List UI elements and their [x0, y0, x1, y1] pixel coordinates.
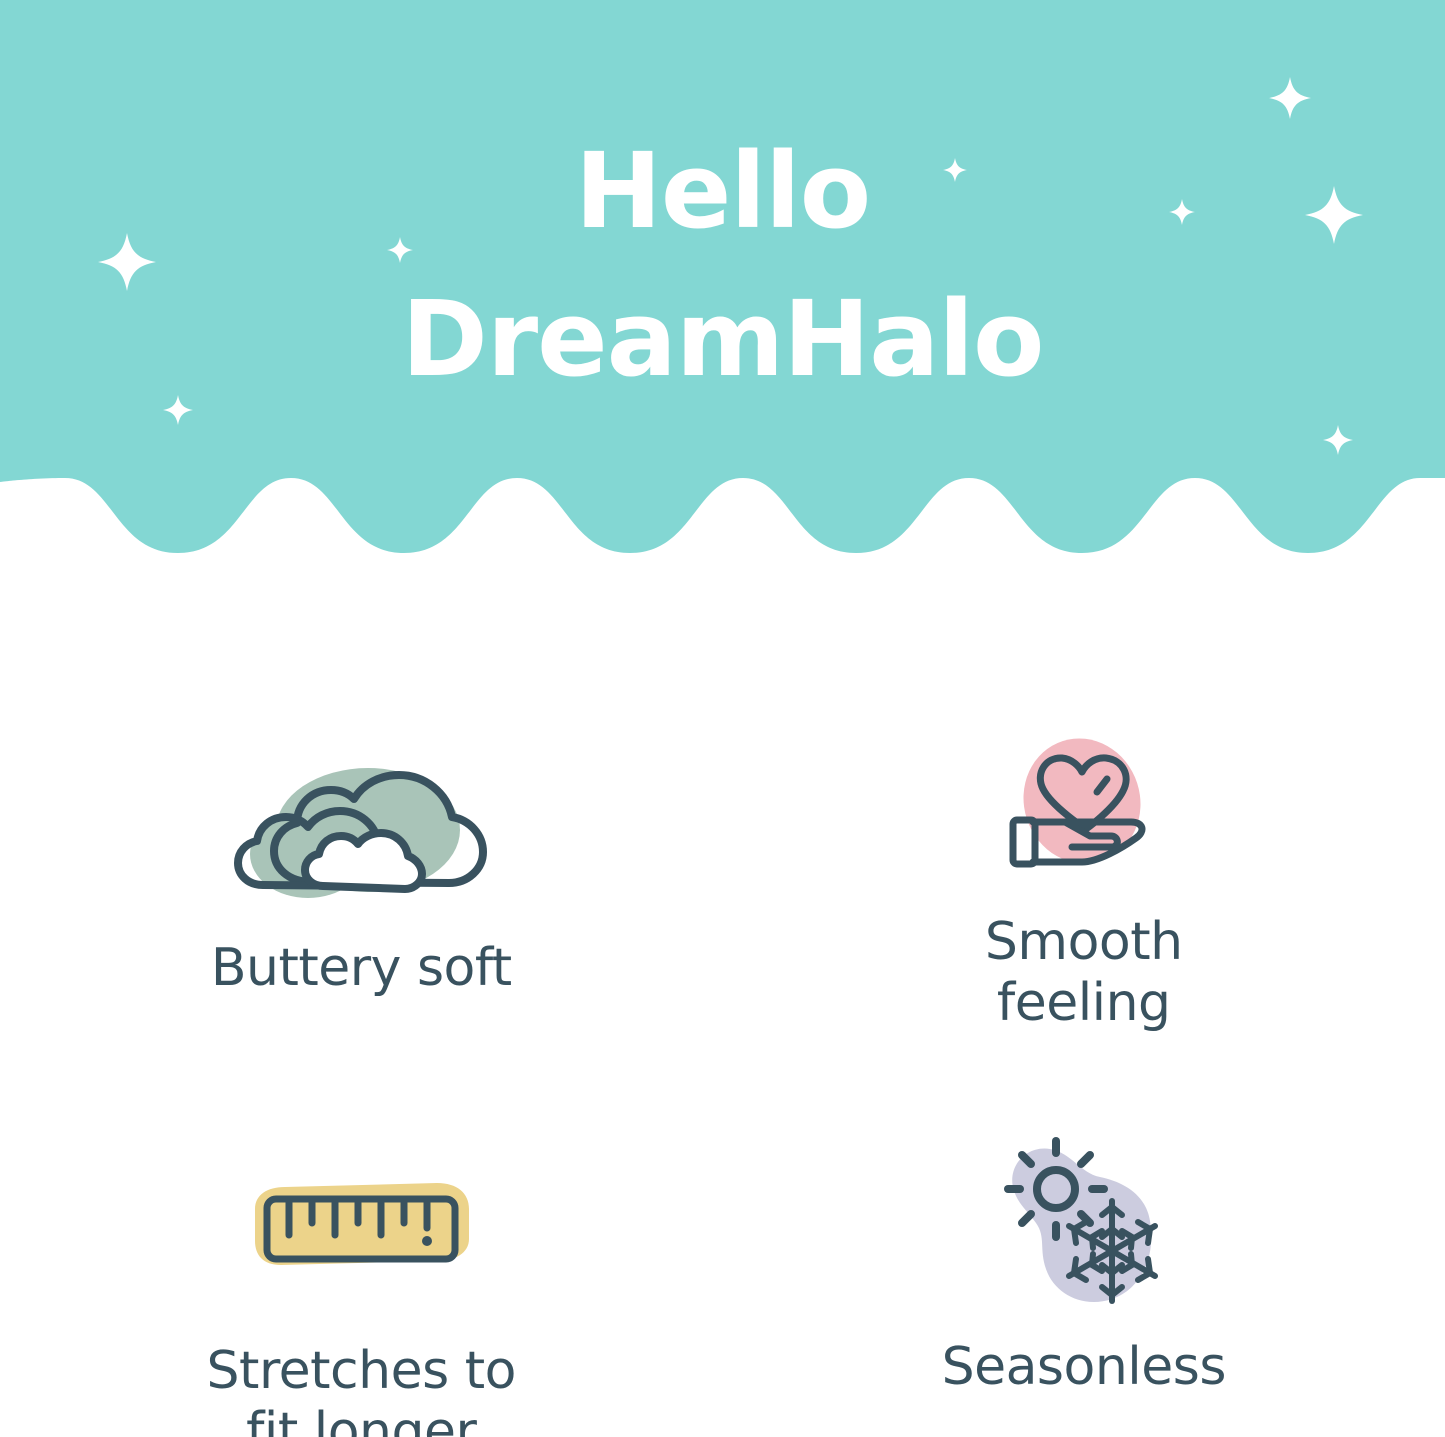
ruler-icon [241, 1173, 481, 1293]
feature-seasonless: Seasonless [723, 1035, 1445, 1437]
product-feature-graphic: Hello DreamHalo Buttery soft [0, 0, 1445, 1437]
feature-grid: Buttery soft Smooth feeling [0, 700, 1445, 1437]
feature-label-buttery-soft: Buttery soft [211, 938, 512, 999]
hand-holding-heart-icon [994, 728, 1174, 878]
feature-label-seasonless: Seasonless [942, 1337, 1226, 1398]
sun-snowflake-icon [984, 1133, 1184, 1313]
feature-label-stretches-to-fit-longer: Stretches to fit longer [207, 1341, 516, 1437]
hero-banner: Hello DreamHalo [0, 0, 1445, 560]
hero-title: Hello DreamHalo [0, 118, 1445, 413]
feature-label-smooth-feeling: Smooth feeling [985, 912, 1183, 1035]
feature-buttery-soft: Buttery soft [0, 700, 723, 1035]
clouds-icon [216, 742, 506, 912]
feature-stretches-to-fit-longer: Stretches to fit longer [0, 1035, 723, 1437]
feature-smooth-feeling: Smooth feeling [723, 700, 1445, 1035]
